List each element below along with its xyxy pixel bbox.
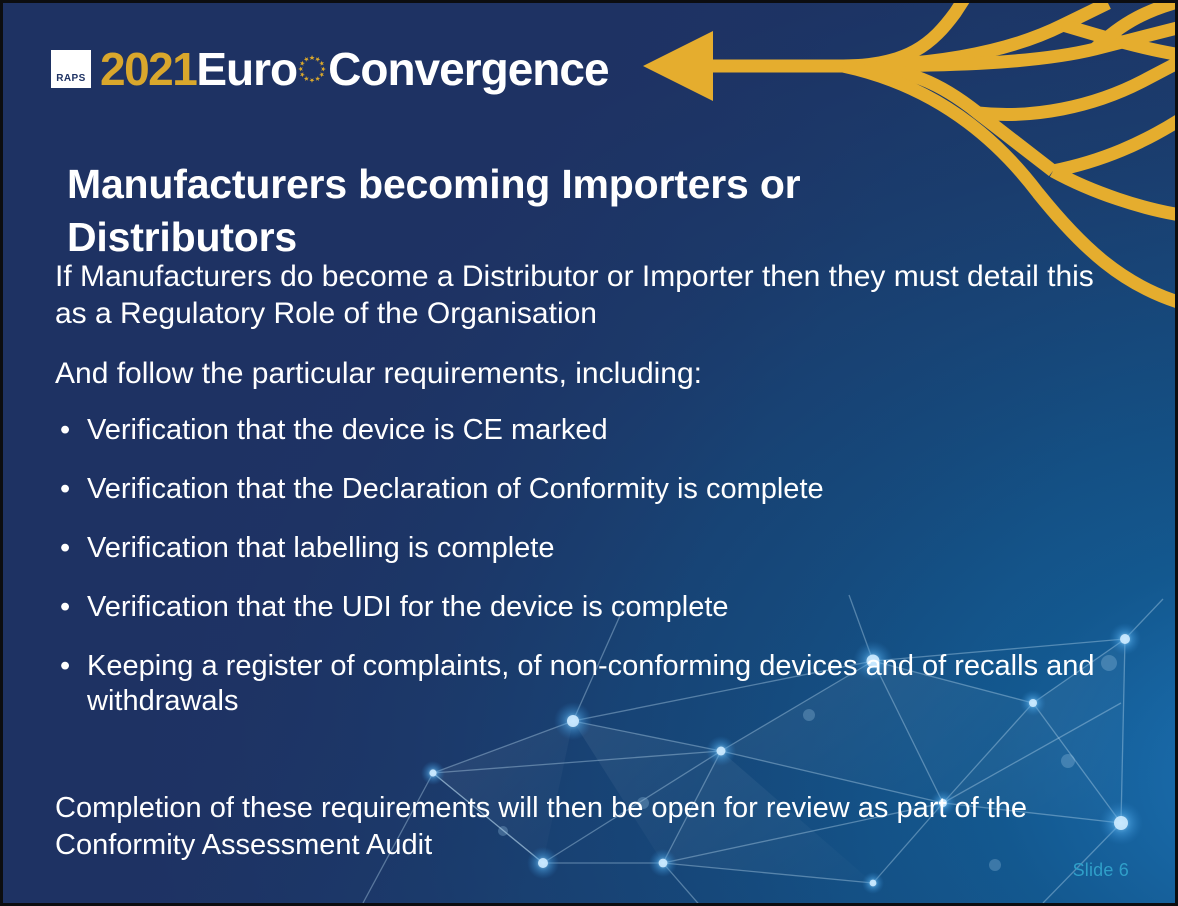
- slide-number: Slide 6: [1073, 860, 1129, 881]
- bullet-marker: •: [60, 590, 70, 625]
- logo-word-convergence: Convergence: [328, 46, 608, 92]
- list-item-label: Verification that the device is CE marke…: [87, 414, 608, 446]
- list-item-label: Verification that the UDI for the device…: [87, 591, 729, 623]
- list-item: • Verification that labelling is complet…: [55, 531, 1115, 566]
- brand-logo: RAPS 2021 Euro: [51, 41, 609, 97]
- slide-body: If Manufacturers do become a Distributor…: [55, 259, 1115, 743]
- logo-word-euro: Euro: [196, 46, 297, 92]
- list-item-label: Verification that labelling is complete: [87, 532, 554, 564]
- list-item: • Verification that the device is CE mar…: [55, 413, 1115, 448]
- bullet-marker: •: [60, 413, 70, 448]
- requirements-bullet-list: • Verification that the device is CE mar…: [55, 413, 1115, 719]
- eu-stars-icon: [295, 52, 329, 86]
- bullet-marker: •: [60, 531, 70, 566]
- list-item: • Verification that the Declaration of C…: [55, 472, 1115, 507]
- closing-paragraph: Completion of these requirements will th…: [55, 790, 1095, 864]
- raps-logo-text: RAPS: [56, 74, 85, 88]
- slide-title: Manufacturers becoming Importers or Dist…: [67, 158, 857, 263]
- raps-logo-mark: RAPS: [51, 50, 91, 88]
- list-item-label: Verification that the Declaration of Con…: [87, 473, 824, 505]
- logo-year: 2021: [100, 46, 196, 92]
- intro-paragraph-1: If Manufacturers do become a Distributor…: [55, 259, 1115, 332]
- bullet-marker: •: [60, 472, 70, 507]
- intro-paragraph-2: And follow the particular requirements, …: [55, 356, 1115, 393]
- list-item: • Verification that the UDI for the devi…: [55, 590, 1115, 625]
- bullet-marker: •: [60, 649, 70, 684]
- list-item-label: Keeping a register of complaints, of non…: [87, 650, 1095, 717]
- slide-canvas: RAPS 2021 Euro: [0, 0, 1178, 906]
- list-item: • Keeping a register of complaints, of n…: [55, 649, 1115, 719]
